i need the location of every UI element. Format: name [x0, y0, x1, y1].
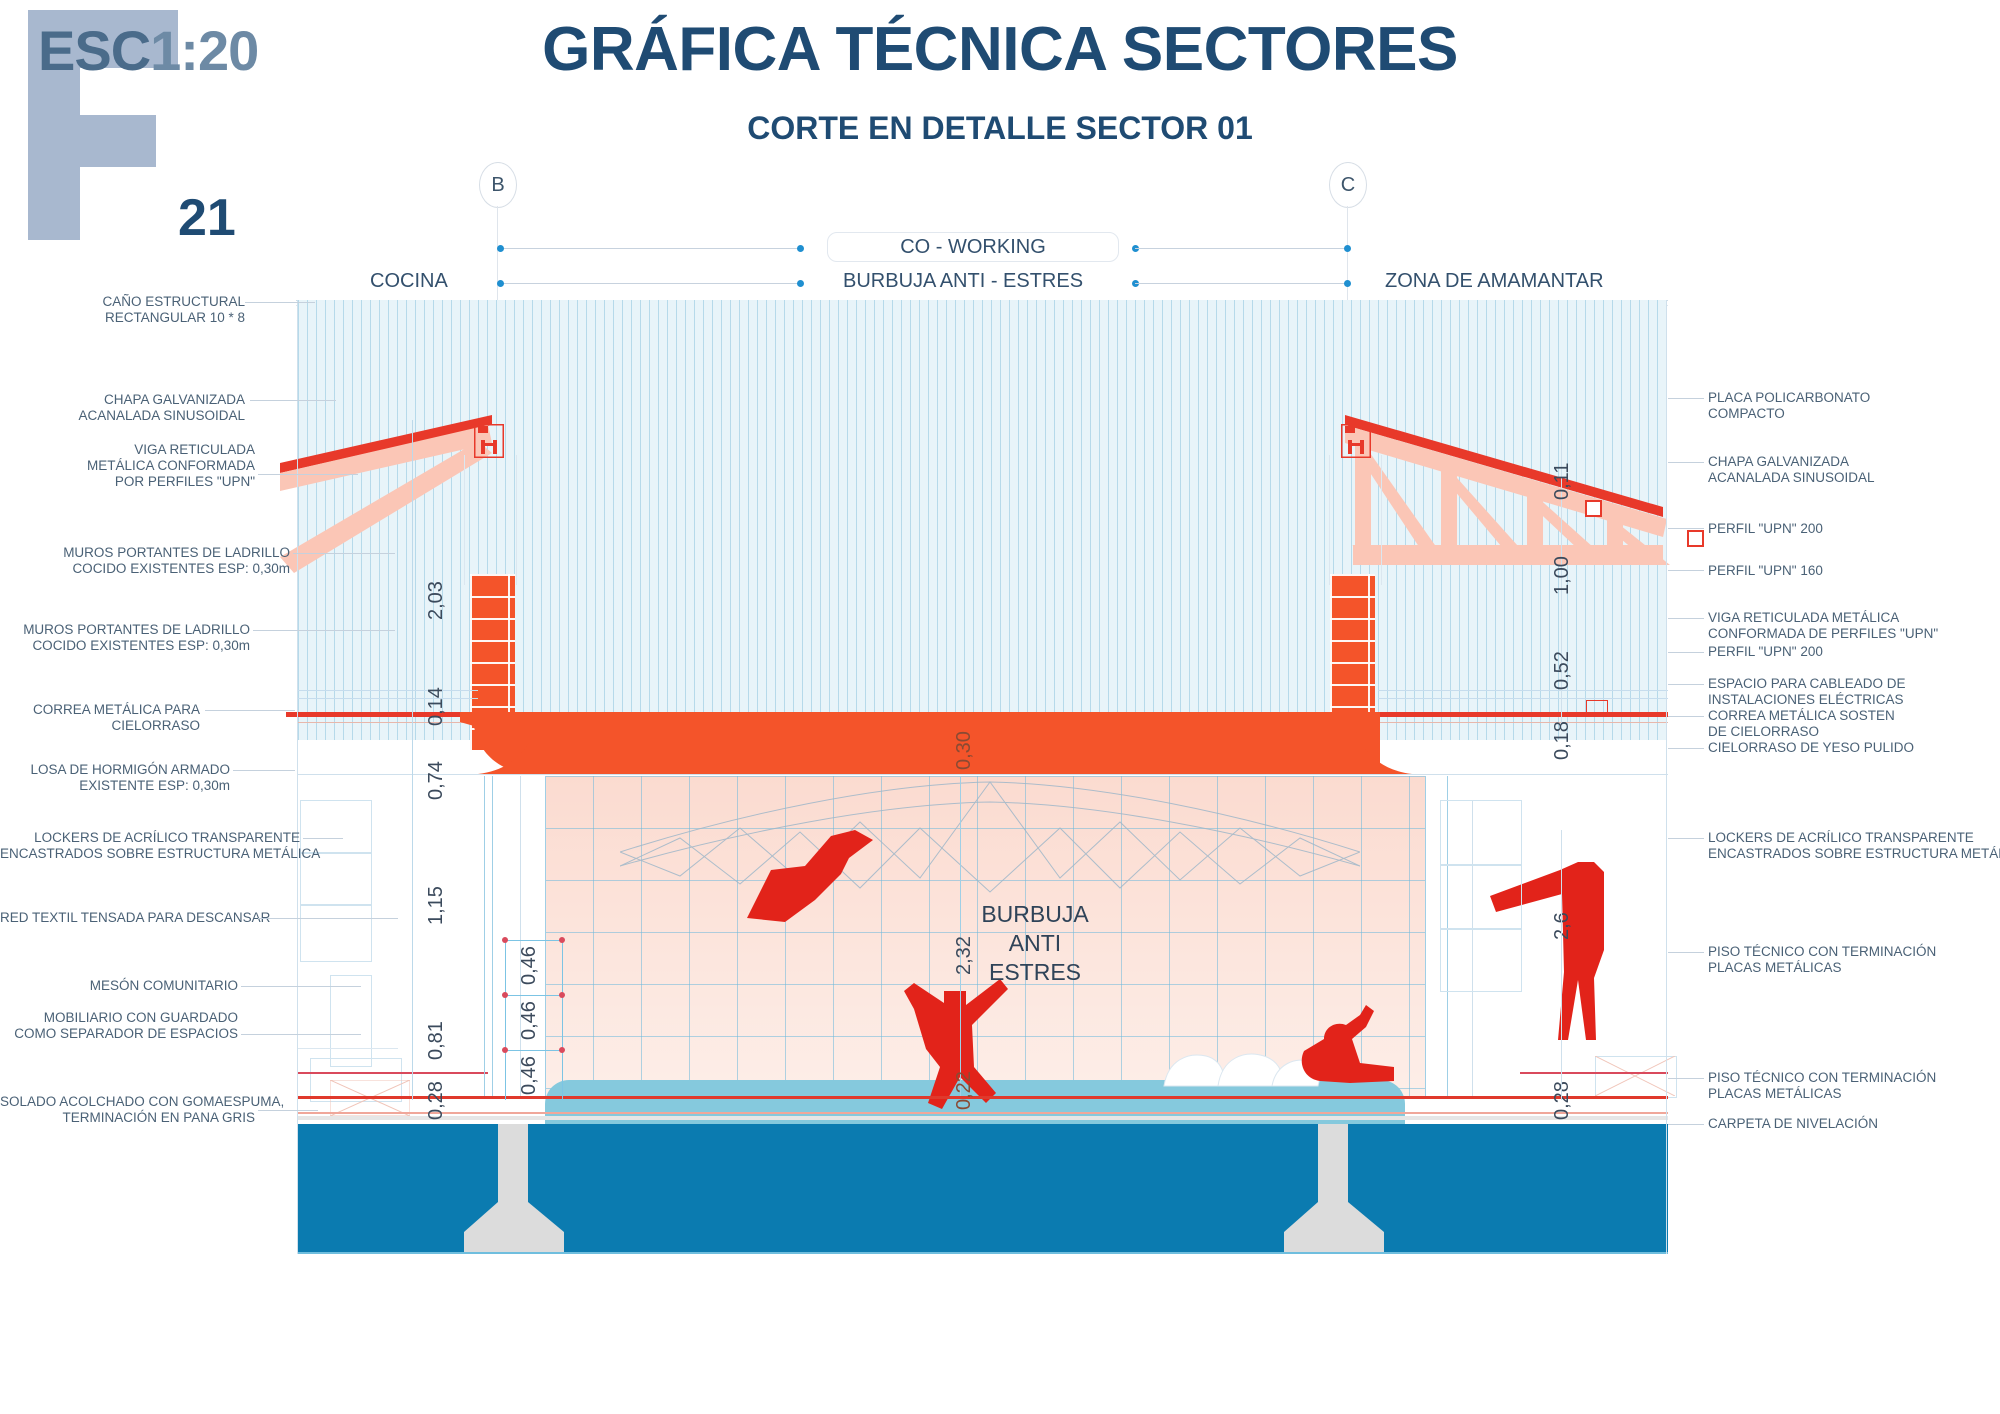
left-truss-node-connector-icon: [474, 424, 504, 458]
annotation-losa-hormigon: LOSA DE HORMIGÓN ARMADO EXISTENTE ESP: 0…: [0, 762, 230, 794]
dimension-0-46-a: 0,46: [518, 946, 541, 985]
annotation-leader: [1668, 398, 1704, 399]
dimension-marker: [559, 937, 565, 943]
annotation-line: COMPACTO: [1708, 406, 1998, 422]
annotation-line: TERMINACIÓN EN PANA GRIS: [0, 1110, 255, 1126]
footing-left: [460, 1124, 570, 1254]
annotation-leader: [1668, 952, 1704, 953]
annotation-perfil-upn-200-b: PERFIL "UPN" 200: [1708, 644, 1998, 660]
dimension-0-74: 0,74: [425, 761, 448, 800]
annotation-line: ACANALADA SINUSOIDAL: [0, 408, 245, 424]
annotation-leader: [1668, 570, 1704, 571]
annotation-lockers-acrilico-left: LOCKERS DE ACRÍLICO TRANSPARENTE ENCASTR…: [0, 830, 300, 862]
annotation-line: ESPACIO PARA CABLEADO DE: [1708, 676, 2000, 692]
annotation-leader: [258, 1110, 318, 1111]
right-boundary-line: [1666, 300, 1667, 1254]
annotation-line: ENCASTRADOS SOBRE ESTRUCTURA METÁLICA: [0, 846, 300, 862]
annotation-line: COCIDO EXISTENTES ESP: 0,30m: [0, 561, 290, 577]
footing-right: [1280, 1124, 1390, 1254]
annotation-leader: [293, 553, 395, 554]
annotation-cielorraso-yeso: CIELORRASO DE YESO PULIDO: [1708, 740, 2000, 756]
annotation-leader: [1668, 1124, 1704, 1125]
dimension-0-14: 0,14: [425, 687, 448, 726]
furniture-cross-hatch: [1595, 1056, 1675, 1096]
meson-comunitario-left: [330, 975, 372, 1067]
dimension-2-32: 2,32: [953, 936, 976, 975]
annotation-viga-reticulada-right: VIGA RETICULADA METÁLICA CONFORMADA DE P…: [1708, 610, 2000, 642]
annotation-line: ACANALADA SINUSOIDAL: [1708, 470, 1998, 486]
slab-mid: [535, 736, 1345, 772]
annotation-piso-tecnico-2: PISO TÉCNICO CON TERMINACIÓN PLACAS METÁ…: [1708, 1070, 2000, 1102]
figure-lying-person: [745, 830, 895, 930]
dimension-line-left: [412, 420, 413, 1100]
annotation-line: PERFIL "UPN" 200: [1708, 521, 1998, 537]
annotation-line: LOCKERS DE ACRÍLICO TRANSPARENTE: [1708, 830, 2000, 846]
dimension-0-46-c: 0,46: [518, 1056, 541, 1095]
annotation-lockers-acrilico-right: LOCKERS DE ACRÍLICO TRANSPARENTE ENCASTR…: [1708, 830, 2000, 862]
right-truss-node-connector-icon: [1341, 424, 1371, 458]
annotation-leader: [241, 1034, 361, 1035]
annotation-line: POR PERFILES "UPN": [0, 474, 255, 490]
annotation-line: INSTALACIONES ELÉCTRICAS: [1708, 692, 2000, 708]
guide-line: [516, 455, 517, 585]
annotation-leader: [258, 474, 358, 475]
annotation-line: PLACA POLICARBONATO: [1708, 390, 1998, 406]
annotation-correa-sosten: CORREA METÁLICA SOSTEN DE CIELORRASO: [1708, 708, 2000, 740]
annotation-line: CIELORRASO: [0, 718, 200, 734]
right-chord-node: [1585, 500, 1602, 517]
dimension-0-22: 0,22: [953, 1071, 976, 1110]
annotation-leader: [253, 630, 395, 631]
annotation-chapa-galvanizada: CHAPA GALVANIZADA ACANALADA SINUSOIDAL: [0, 392, 245, 424]
annotation-leader: [1668, 462, 1704, 463]
dimension-0-30: 0,30: [953, 731, 976, 770]
bubble-label-line1: BURBUJA: [940, 900, 1130, 929]
right-truss: [1345, 425, 1675, 610]
annotation-correa-metalica: CORREA METÁLICA PARA CIELORRASO: [0, 702, 200, 734]
piso-tecnico-line: [298, 1096, 1668, 1099]
ceiling-line: [298, 698, 478, 699]
annotation-line: PLACAS METÁLICAS: [1708, 1086, 2000, 1102]
figure-seated-person: [1290, 1005, 1410, 1095]
annotation-leader: [233, 770, 295, 771]
carpeta-nivelacion: [298, 1116, 1668, 1120]
annotation-leader: [1668, 528, 1704, 529]
ceiling-bracket-icon: [1586, 700, 1608, 715]
annotation-leader: [1668, 652, 1704, 653]
annotation-line: PISO TÉCNICO CON TERMINACIÓN: [1708, 1070, 2000, 1086]
annotation-leader: [1668, 838, 1704, 839]
counter-top-line: [298, 1072, 488, 1074]
annotation-line: CARPETA DE NIVELACIÓN: [1708, 1116, 2000, 1132]
annotation-chapa-galvanizada-right: CHAPA GALVANIZADA ACANALADA SINUSOIDAL: [1708, 454, 1998, 486]
annotation-line: CIELORRASO DE YESO PULIDO: [1708, 740, 2000, 756]
ground-bottom-line: [298, 1252, 1668, 1254]
annotation-line: RED TEXTIL TENSADA PARA DESCANSAR: [0, 910, 255, 926]
annotation-line: VIGA RETICULADA: [0, 442, 255, 458]
annotation-mobiliario-guardado: MOBILIARIO CON GUARDADO COMO SEPARADOR D…: [0, 1010, 238, 1042]
dimension-line-right-lower: [1561, 830, 1562, 1100]
annotation-red-textil: RED TEXTIL TENSADA PARA DESCANSAR: [0, 910, 255, 926]
annotation-line: PLACAS METÁLICAS: [1708, 960, 2000, 976]
dimension-marker: [502, 992, 508, 998]
counter-top-line-right: [1520, 1072, 1668, 1074]
annotation-viga-reticulada: VIGA RETICULADA METÁLICA CONFORMADA POR …: [0, 442, 255, 490]
locker-shelf: [1440, 800, 1522, 866]
dimension-marker: [502, 937, 508, 943]
dimension-0-18: 0,18: [1551, 721, 1574, 760]
ceiling-line: [1378, 690, 1668, 691]
guide-line: [1381, 455, 1382, 585]
annotation-leader: [241, 986, 361, 987]
carpeta-line: [298, 1112, 1668, 1114]
annotation-meson-comunitario: MESÓN COMUNITARIO: [0, 978, 238, 994]
partition-line: [484, 776, 485, 1098]
annotation-leader: [250, 400, 336, 401]
annotation-placa-policarbonato: PLACA POLICARBONATO COMPACTO: [1708, 390, 1998, 422]
annotation-piso-tecnico-1: PISO TÉCNICO CON TERMINACIÓN PLACAS METÁ…: [1708, 944, 2000, 976]
dimension-1-15: 1,15: [425, 886, 448, 925]
partition-line: [1425, 776, 1426, 1098]
technical-section-drawing: [0, 0, 2000, 1414]
annotation-line: CAÑO ESTRUCTURAL: [0, 294, 245, 310]
annotation-line: VIGA RETICULADA METÁLICA: [1708, 610, 2000, 626]
annotation-line: MUROS PORTANTES DE LADRILLO: [0, 622, 250, 638]
dimension-tick-row: [505, 940, 563, 941]
locker-shelf: [1440, 864, 1522, 930]
annotation-line: MUROS PORTANTES DE LADRILLO: [0, 545, 290, 561]
annotation-carpeta-nivelacion: CARPETA DE NIVELACIÓN: [1708, 1116, 2000, 1132]
annotation-line: LOCKERS DE ACRÍLICO TRANSPARENTE: [0, 830, 300, 846]
annotation-line: CONFORMADA DE PERFILES "UPN": [1708, 626, 2000, 642]
annotation-line: ENCASTRADOS SOBRE ESTRUCTURA METÁLICA: [1708, 846, 2000, 862]
dimension-marker: [502, 1047, 508, 1053]
dimension-line-second: [505, 940, 506, 1100]
annotation-leader: [205, 710, 295, 711]
annotation-line: MOBILIARIO CON GUARDADO: [0, 1010, 238, 1026]
annotation-line: PERFIL "UPN" 160: [1708, 563, 1998, 579]
locker-shelf: [300, 904, 372, 962]
annotation-muros-portantes-2: MUROS PORTANTES DE LADRILLO COCIDO EXIST…: [0, 622, 250, 654]
annotation-leader: [1668, 684, 1704, 685]
dimension-marker: [559, 992, 565, 998]
annotation-espacio-cableado: ESPACIO PARA CABLEADO DE INSTALACIONES E…: [1708, 676, 2000, 708]
annotation-muros-portantes-1: MUROS PORTANTES DE LADRILLO COCIDO EXIST…: [0, 545, 290, 577]
partition-line: [492, 776, 493, 1098]
annotation-line: SOLADO ACOLCHADO CON GOMAESPUMA,: [0, 1094, 255, 1110]
annotation-leader: [1668, 618, 1704, 619]
ceiling-line: [298, 690, 478, 691]
locker-shelf: [1440, 928, 1522, 992]
annotation-line: DE CIELORRASO: [1708, 724, 2000, 740]
annotation-line: CHAPA GALVANIZADA: [1708, 454, 1998, 470]
annotation-line: COMO SEPARADOR DE ESPACIOS: [0, 1026, 238, 1042]
dimension-marker: [559, 1047, 565, 1053]
dimension-0-28: 0,28: [425, 1081, 448, 1120]
annotation-leader: [1668, 1078, 1704, 1079]
annotation-line: LOSA DE HORMIGÓN ARMADO: [0, 762, 230, 778]
dimension-2-03: 2,03: [425, 581, 448, 620]
annotation-line: PISO TÉCNICO CON TERMINACIÓN: [1708, 944, 2000, 960]
dimension-2-6: 2,6: [1551, 912, 1574, 940]
ceiling-line: [1378, 698, 1668, 699]
annotation-line: CHAPA GALVANIZADA: [0, 392, 245, 408]
annotation-cano-estructural: CAÑO ESTRUCTURAL RECTANGULAR 10 * 8: [0, 294, 245, 326]
dimension-tick-row: [505, 995, 563, 996]
annotation-leader: [303, 838, 343, 839]
annotation-line: RECTANGULAR 10 * 8: [0, 310, 245, 326]
annotation-solado-acolchado: SOLADO ACOLCHADO CON GOMAESPUMA, TERMINA…: [0, 1094, 255, 1126]
annotation-leader: [258, 918, 398, 919]
guide-line: [464, 455, 465, 585]
dimension-0-52: 0,52: [1551, 651, 1574, 690]
dimension-0-11: 0,11: [1551, 463, 1574, 500]
annotation-perfil-upn-160: PERFIL "UPN" 160: [1708, 563, 1998, 579]
annotation-line: COCIDO EXISTENTES ESP: 0,30m: [0, 638, 250, 654]
dimension-line-second-b: [562, 940, 563, 1100]
annotation-line: PERFIL "UPN" 200: [1708, 644, 1998, 660]
furniture-line: [298, 1048, 398, 1049]
dimension-0-28-right: 0,28: [1551, 1081, 1574, 1120]
red-textil-net: [620, 780, 1360, 900]
bubble-ceiling-line: [298, 774, 1668, 775]
annotation-leader: [1668, 716, 1704, 717]
annotation-perfil-upn-200-a: PERFIL "UPN" 200: [1708, 521, 1998, 537]
annotation-line: METÁLICA CONFORMADA: [0, 458, 255, 474]
annotation-line: MESÓN COMUNITARIO: [0, 978, 238, 994]
annotation-leader: [245, 302, 315, 303]
annotation-leader: [1668, 748, 1704, 749]
dimension-tick-row: [505, 1050, 563, 1051]
dimension-0-46-b: 0,46: [518, 1001, 541, 1040]
dimension-0-81: 0,81: [425, 1021, 448, 1060]
dimension-1-00: 1,00: [1551, 556, 1574, 595]
annotation-line: CORREA METÁLICA PARA: [0, 702, 200, 718]
annotation-line: EXISTENTE ESP: 0,30m: [0, 778, 230, 794]
annotation-line: CORREA METÁLICA SOSTEN: [1708, 708, 2000, 724]
right-chord-node: [1687, 530, 1704, 547]
guide-line: [1329, 455, 1330, 585]
